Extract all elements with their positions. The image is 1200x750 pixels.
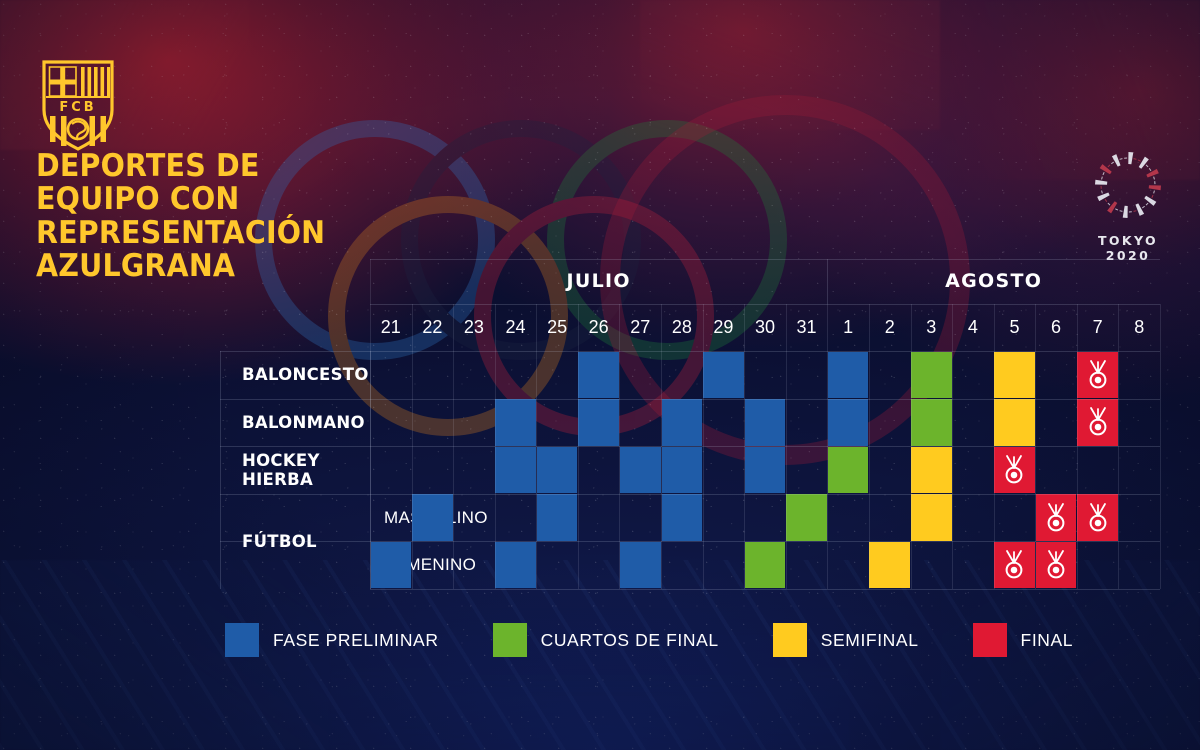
legend-label-final: FINAL xyxy=(1021,630,1074,651)
cell-balonmano-28-prelim[interactable] xyxy=(662,399,703,446)
medal-icon xyxy=(1001,455,1027,485)
grid-line-vertical xyxy=(536,304,537,589)
grid-line-vertical xyxy=(952,304,953,589)
cell-baloncesto-7-final[interactable] xyxy=(1077,352,1118,399)
cell-fútbol-31-quarter[interactable] xyxy=(786,494,827,541)
row-label-baloncesto: BALONCESTO xyxy=(220,351,392,399)
cell-femenino-24-prelim[interactable] xyxy=(495,542,536,589)
cell-hockey-hierba-1-quarter[interactable] xyxy=(828,447,869,494)
medal-icon xyxy=(1085,503,1111,533)
day-header-28: 28 xyxy=(661,304,703,351)
row-label-balonmano: BALONMANO xyxy=(220,399,392,447)
grid-line-horizontal xyxy=(220,446,1160,447)
cell-balonmano-26-prelim[interactable] xyxy=(578,399,619,446)
day-header-6: 6 xyxy=(1035,304,1077,351)
title-line-3: REPRESENTACIÓN xyxy=(36,217,340,250)
medal-icon xyxy=(1085,407,1111,437)
svg-text:FCB: FCB xyxy=(59,100,96,115)
grid-line-horizontal xyxy=(220,494,1160,495)
grid-line-vertical xyxy=(619,304,620,589)
grid-line-vertical xyxy=(1118,304,1119,589)
grid-line-vertical xyxy=(220,351,221,589)
cell-hockey-hierba-27-prelim[interactable] xyxy=(620,447,661,494)
day-header-3: 3 xyxy=(911,304,953,351)
cell-fútbol-25-prelim[interactable] xyxy=(537,494,578,541)
cell-balonmano-7-final[interactable] xyxy=(1077,399,1118,446)
medal-icon xyxy=(1085,360,1111,390)
legend-swatch-quarter xyxy=(493,623,527,657)
cell-fútbol-28-prelim[interactable] xyxy=(662,494,703,541)
day-header-27: 27 xyxy=(619,304,661,351)
row-label-hockey-hierba: HOCKEY HIERBA xyxy=(220,446,392,494)
cell-hockey-hierba-24-prelim[interactable] xyxy=(495,447,536,494)
cell-hockey-hierba-28-prelim[interactable] xyxy=(662,447,703,494)
title-line-2: EQUIPO CON xyxy=(36,183,340,216)
legend-item-semi[interactable]: SEMIFINAL xyxy=(773,623,919,657)
fc-barcelona-crest: FCB xyxy=(40,56,116,152)
cell-baloncesto-3-quarter[interactable] xyxy=(911,352,952,399)
day-header-24: 24 xyxy=(495,304,537,351)
legend-label-semi: SEMIFINAL xyxy=(821,630,919,651)
day-header-25: 25 xyxy=(536,304,578,351)
grid-line-vertical xyxy=(827,304,828,589)
cell-fútbol-3-semi[interactable] xyxy=(911,494,952,541)
cell-fútbol-7-final[interactable] xyxy=(1077,494,1118,541)
cell-balonmano-5-semi[interactable] xyxy=(994,399,1035,446)
grid-line-vertical xyxy=(412,304,413,589)
grid-line-horizontal xyxy=(370,589,1160,590)
day-header-22: 22 xyxy=(412,304,454,351)
grid-line-vertical xyxy=(370,351,371,589)
grid-line-vertical xyxy=(661,304,662,589)
legend-swatch-final xyxy=(973,623,1007,657)
cell-hockey-hierba-30-prelim[interactable] xyxy=(745,447,786,494)
tokyo-2020-logo: TOKYO 2020 xyxy=(1076,146,1180,250)
grid-line-vertical xyxy=(453,304,454,589)
cell-balonmano-30-prelim[interactable] xyxy=(745,399,786,446)
day-header-1: 1 xyxy=(827,304,869,351)
grid-line-vertical xyxy=(495,304,496,589)
cell-femenino-5-final[interactable] xyxy=(994,542,1035,589)
cell-fútbol-6-final[interactable] xyxy=(1036,494,1077,541)
legend-label-prelim: FASE PRELIMINAR xyxy=(273,630,439,651)
grid-line-horizontal xyxy=(370,259,1160,260)
grid-line-vertical xyxy=(911,304,912,589)
title-line-1: DEPORTES DE xyxy=(36,150,340,183)
cell-balonmano-24-prelim[interactable] xyxy=(495,399,536,446)
legend-item-quarter[interactable]: CUARTOS DE FINAL xyxy=(493,623,719,657)
grid-line-vertical xyxy=(994,304,995,589)
grid-line-vertical xyxy=(869,304,870,589)
grid-line-horizontal xyxy=(220,541,1160,542)
cell-femenino-30-quarter[interactable] xyxy=(745,542,786,589)
grid-line-vertical xyxy=(703,304,704,589)
cell-fútbol-22-prelim[interactable] xyxy=(412,494,453,541)
grid-line-vertical xyxy=(1035,304,1036,589)
legend-item-final[interactable]: FINAL xyxy=(973,623,1074,657)
grid-line-horizontal xyxy=(220,351,1160,352)
cell-femenino-6-final[interactable] xyxy=(1036,542,1077,589)
medal-icon xyxy=(1043,503,1069,533)
cell-femenino-21-prelim[interactable] xyxy=(371,542,412,589)
grid-line-vertical xyxy=(827,259,828,304)
grid-line-vertical xyxy=(744,304,745,589)
cell-baloncesto-26-prelim[interactable] xyxy=(578,352,619,399)
legend-label-quarter: CUARTOS DE FINAL xyxy=(541,630,719,651)
month-header-julio: JULIO xyxy=(370,259,827,304)
legend-swatch-prelim xyxy=(225,623,259,657)
cell-baloncesto-29-prelim[interactable] xyxy=(703,352,744,399)
tokyo-2020-emblem xyxy=(1086,146,1170,224)
cell-baloncesto-5-semi[interactable] xyxy=(994,352,1035,399)
grid-line-vertical xyxy=(578,304,579,589)
medal-icon xyxy=(1043,550,1069,580)
day-header-7: 7 xyxy=(1077,304,1119,351)
day-header-4: 4 xyxy=(952,304,994,351)
day-header-21: 21 xyxy=(370,304,412,351)
day-header-26: 26 xyxy=(578,304,620,351)
cell-femenino-27-prelim[interactable] xyxy=(620,542,661,589)
legend-swatch-semi xyxy=(773,623,807,657)
cell-balonmano-3-quarter[interactable] xyxy=(911,399,952,446)
day-header-31: 31 xyxy=(786,304,828,351)
cell-hockey-hierba-25-prelim[interactable] xyxy=(537,447,578,494)
cell-femenino-2-semi[interactable] xyxy=(869,542,910,589)
competition-calendar-table: JULIOAGOSTO21222324252627282930311234567… xyxy=(220,259,1160,589)
cell-hockey-hierba-3-semi[interactable] xyxy=(911,447,952,494)
day-header-5: 5 xyxy=(994,304,1036,351)
grid-line-vertical xyxy=(1160,304,1161,589)
legend-item-prelim[interactable]: FASE PRELIMINAR xyxy=(225,623,439,657)
day-header-29: 29 xyxy=(703,304,745,351)
day-header-8: 8 xyxy=(1118,304,1160,351)
day-header-23: 23 xyxy=(453,304,495,351)
cell-hockey-hierba-5-final[interactable] xyxy=(994,447,1035,494)
grid-line-horizontal xyxy=(370,304,1160,305)
legend: FASE PRELIMINARCUARTOS DE FINALSEMIFINAL… xyxy=(225,620,1127,660)
medal-icon xyxy=(1001,550,1027,580)
day-header-30: 30 xyxy=(744,304,786,351)
month-header-agosto: AGOSTO xyxy=(827,259,1160,304)
cell-balonmano-1-prelim[interactable] xyxy=(828,399,869,446)
grid-line-horizontal xyxy=(220,399,1160,400)
grid-line-vertical xyxy=(1077,304,1078,589)
day-header-2: 2 xyxy=(869,304,911,351)
grid-line-vertical xyxy=(786,304,787,589)
cell-baloncesto-1-prelim[interactable] xyxy=(828,352,869,399)
